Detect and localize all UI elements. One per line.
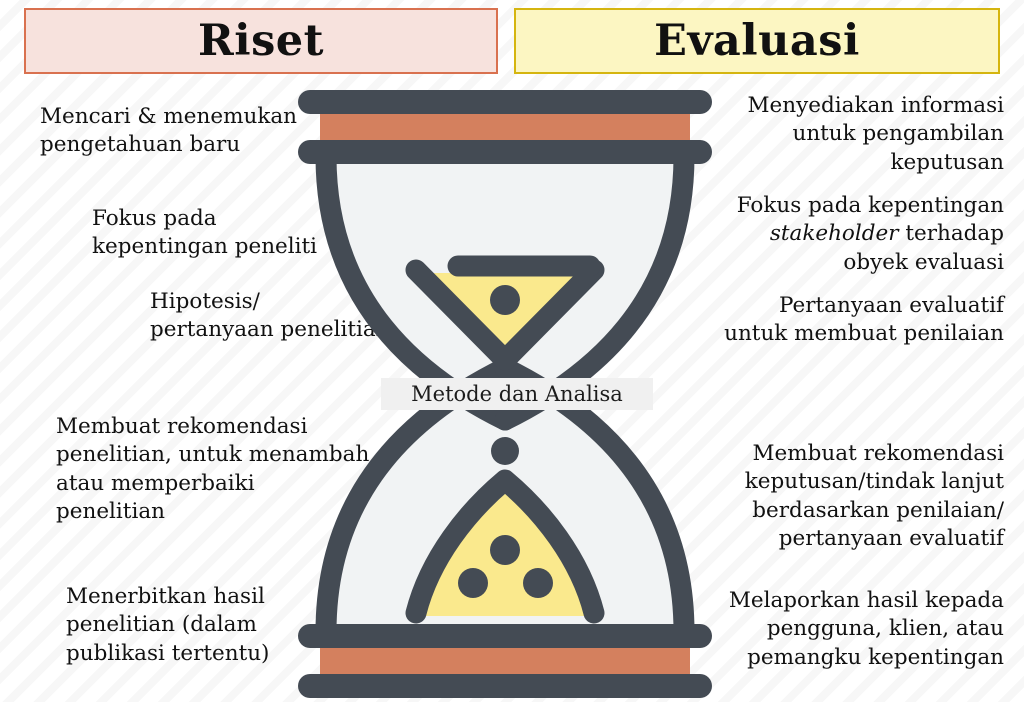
top-sand-grain xyxy=(490,285,520,315)
right-item-2-italic: stakeholder xyxy=(770,221,899,246)
top-cap-bar-upper xyxy=(298,90,712,114)
header-box-riset: Riset xyxy=(24,8,498,74)
right-item-1: Menyediakan informasi untuk pengambilan … xyxy=(684,92,1004,177)
falling-sand-grain xyxy=(491,437,519,465)
header-title-evaluasi: Evaluasi xyxy=(654,20,860,63)
bottom-sand-grain-left xyxy=(458,568,488,598)
header-box-evaluasi: Evaluasi xyxy=(514,8,1000,74)
right-item-5: Melaporkan hasil kepada pengguna, klien,… xyxy=(684,587,1004,672)
right-item-2-before: Fokus pada kepentingan xyxy=(737,193,1004,218)
bottom-cap-bar-lower xyxy=(298,674,712,698)
header-title-riset: Riset xyxy=(198,20,324,63)
bottom-sand-grain-top xyxy=(490,535,520,565)
center-label-text: Metode dan Analisa xyxy=(411,384,623,405)
top-cap-bar-lower xyxy=(298,140,712,164)
center-label-metode: Metode dan Analisa xyxy=(381,378,653,410)
right-item-4: Membuat rekomendasi keputusan/tindak lan… xyxy=(694,440,1004,554)
bottom-sand-grain-right xyxy=(523,568,553,598)
left-item-5: Menerbitkan hasil penelitian (dalam publ… xyxy=(66,583,316,668)
bottom-cap-bar-upper xyxy=(298,624,712,648)
